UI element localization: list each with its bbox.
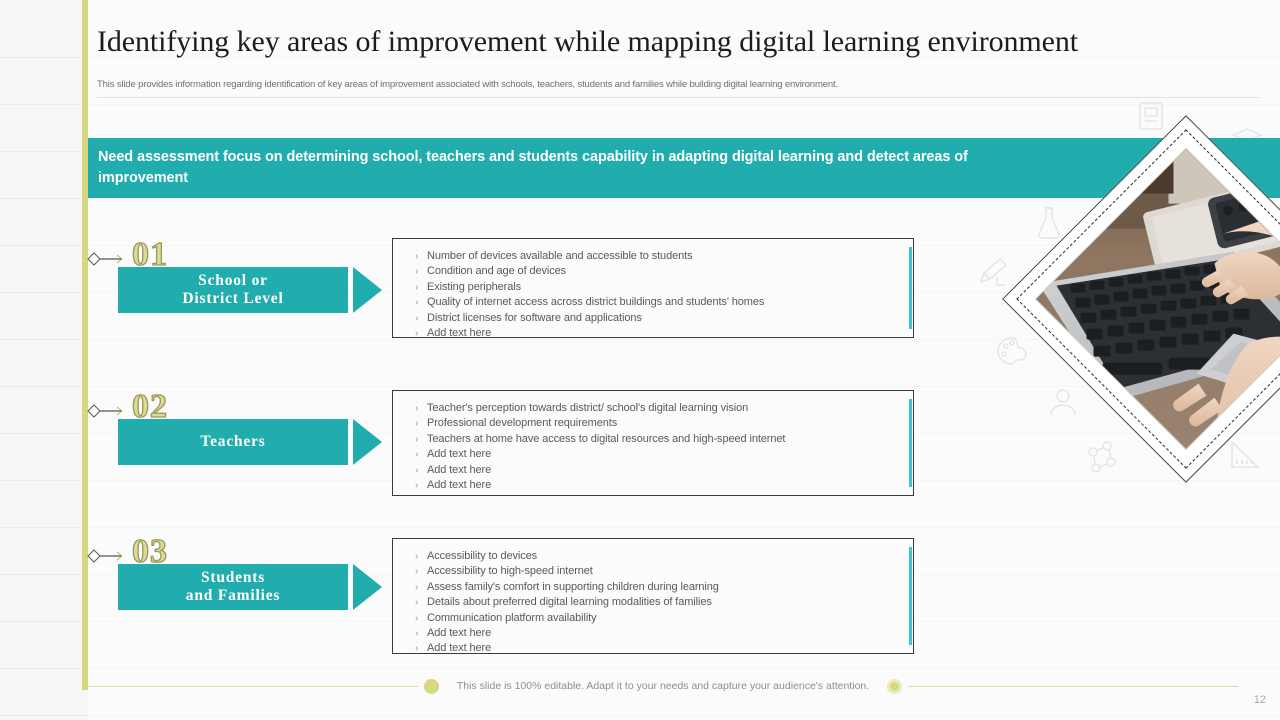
chevron-right-icon: › (405, 565, 427, 579)
row-label-arrowhead (353, 267, 382, 313)
banner-text: Need assessment focus on determining sch… (98, 147, 998, 189)
row-label-box: Students and Families (118, 564, 348, 610)
chevron-right-icon: › (405, 612, 427, 626)
list-item: ›District licenses for software and appl… (405, 311, 901, 326)
list-item: ›Accessibility to devices (405, 549, 901, 564)
row-bullets-box: ›Teacher's perception towards district/ … (392, 390, 914, 496)
list-item-text: Teacher's perception towards district/ s… (427, 401, 748, 415)
list-item-text: Accessibility to high-speed internet (427, 564, 593, 578)
chevron-right-icon: › (405, 265, 427, 279)
connector-diamond-icon (86, 549, 126, 563)
chevron-right-icon: › (405, 281, 427, 295)
chevron-right-icon: › (405, 464, 427, 478)
list-item-text: District licenses for software and appli… (427, 311, 642, 325)
list-item: ›Professional development requirements (405, 416, 901, 431)
page-number: 12 (1254, 694, 1266, 706)
list-item: ›Number of devices available and accessi… (405, 249, 901, 264)
list-item-text: Add text here (427, 463, 491, 477)
list-item: ›Assess family's comfort in supporting c… (405, 580, 901, 595)
footer-text: This slide is 100% editable. Adapt it to… (445, 680, 881, 692)
row-bullets-box: ›Accessibility to devices ›Accessibility… (392, 538, 914, 654)
list-item-text: Add text here (427, 478, 491, 492)
chevron-right-icon: › (405, 312, 427, 326)
page-title: Identifying key areas of improvement whi… (97, 25, 1237, 59)
list-item-text: Add text here (427, 326, 491, 340)
footer-dot-right (887, 679, 902, 694)
header-divider (97, 97, 1260, 98)
footer-line-right (908, 686, 1238, 687)
list-item-text: Add text here (427, 447, 491, 461)
chevron-right-icon: › (405, 627, 427, 641)
list-item-text: Communication platform availability (427, 611, 597, 625)
list-item: ›Add text here (405, 626, 901, 641)
list-item-text: Add text here (427, 641, 491, 655)
chevron-right-icon: › (405, 296, 427, 310)
list-item: ›Add text here (405, 641, 901, 656)
chevron-right-icon: › (405, 581, 427, 595)
chevron-right-icon: › (405, 479, 427, 493)
chevron-right-icon: › (405, 402, 427, 416)
footer: This slide is 100% editable. Adapt it to… (88, 676, 1238, 696)
list-item: ›Accessibility to high-speed internet (405, 564, 901, 579)
row-label-box: Teachers (118, 419, 348, 465)
bullets-accent-bar (909, 547, 912, 645)
chevron-right-icon: › (405, 642, 427, 656)
list-item: ›Details about preferred digital learnin… (405, 595, 901, 610)
list-item-text: Professional development requirements (427, 416, 617, 430)
row-label-text: Students and Families (186, 569, 280, 605)
list-item: ›Add text here (405, 326, 901, 341)
row-label-box: School or District Level (118, 267, 348, 313)
list-item: ›Add text here (405, 478, 901, 493)
row-bullets-box: ›Number of devices available and accessi… (392, 238, 914, 338)
list-item: ›Teacher's perception towards district/ … (405, 401, 901, 416)
diamond-photo-frame (1004, 117, 1280, 481)
list-item: ›Add text here (405, 463, 901, 478)
list-item-text: Add text here (427, 626, 491, 640)
list-item-text: Teachers at home have access to digital … (427, 432, 785, 446)
footer-dot-left (424, 679, 439, 694)
list-item: ›Communication platform availability (405, 611, 901, 626)
list-item-text: Existing peripherals (427, 280, 521, 294)
list-item-text: Quality of internet access across distri… (427, 295, 764, 309)
bullets-accent-bar (909, 399, 912, 487)
list-item-text: Assess family's comfort in supporting ch… (427, 580, 719, 594)
list-item-text: Accessibility to devices (427, 549, 537, 563)
list-item: ›Quality of internet access across distr… (405, 295, 901, 310)
page-subtitle: This slide provides information regardin… (97, 79, 1157, 90)
vertical-accent-rail (82, 0, 88, 690)
chevron-right-icon: › (405, 417, 427, 431)
list-item: ›Existing peripherals (405, 280, 901, 295)
chevron-right-icon: › (405, 250, 427, 264)
connector-diamond-icon (86, 252, 126, 266)
list-item: ›Teachers at home have access to digital… (405, 432, 901, 447)
list-item-text: Condition and age of devices (427, 264, 566, 278)
chevron-right-icon: › (405, 433, 427, 447)
chevron-right-icon: › (405, 327, 427, 341)
list-item: ›Condition and age of devices (405, 264, 901, 279)
row-label-text: School or District Level (182, 272, 283, 308)
list-item: ›Add text here (405, 447, 901, 462)
slide: Identifying key areas of improvement whi… (0, 0, 1280, 720)
row-label-arrowhead (353, 564, 382, 610)
list-item-text: Details about preferred digital learning… (427, 595, 712, 609)
chevron-right-icon: › (405, 596, 427, 610)
row-label-arrowhead (353, 419, 382, 465)
list-item-text: Number of devices available and accessib… (427, 249, 692, 263)
chevron-right-icon: › (405, 550, 427, 564)
chevron-right-icon: › (405, 448, 427, 462)
row-label-text: Teachers (200, 433, 265, 451)
bullets-accent-bar (909, 247, 912, 329)
footer-line-left (88, 686, 418, 687)
connector-diamond-icon (86, 404, 126, 418)
